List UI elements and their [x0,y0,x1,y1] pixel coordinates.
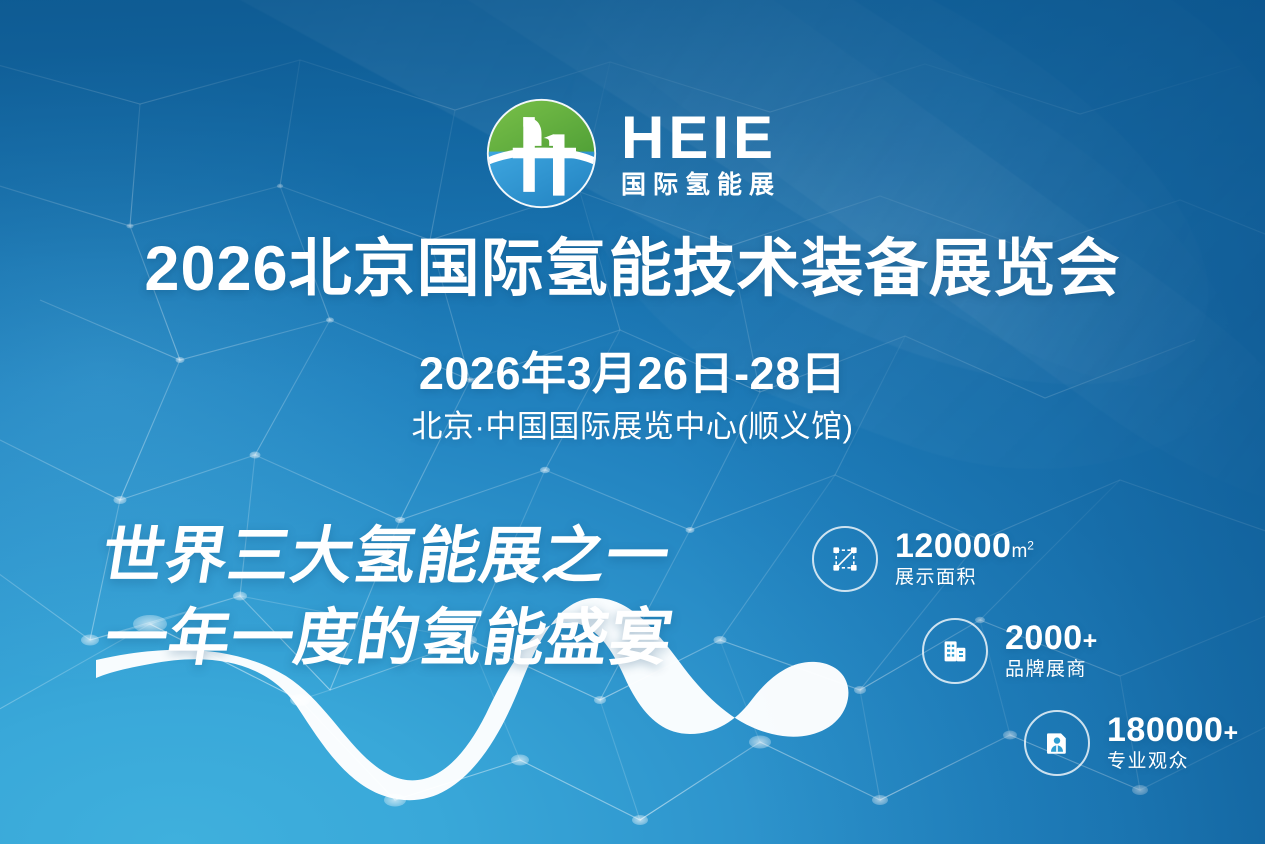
stat-suffix: + [1223,719,1238,747]
slogan-line-2: 一年一度的氢能盛宴 [83,598,679,680]
page-title: 2026北京国际氢能技术装备展览会 [0,236,1265,302]
slogan-block: 世界三大氢能展之一 一年一度的氢能盛宴 [83,516,692,680]
event-date: 2026年3月26日-28日 [0,350,1265,399]
stat-text-group: 180000+ 专业观众 [1107,713,1239,773]
brand-wordmark-group: HEIE 国际氢能展 [621,109,781,199]
brand-subtitle: 国际氢能展 [621,173,781,198]
brand-wordmark: HEIE [621,109,777,168]
stat-number: 2000 [1005,619,1083,657]
stat-professional-visitors: 180000+ 专业观众 [1024,710,1239,776]
heie-logo-icon [484,96,599,211]
visitor-badge-icon [1024,710,1090,776]
stat-suffix: + [1083,627,1098,655]
stat-exhibition-area: 120000m2 展示面积 [812,526,1034,592]
stat-number: 120000 [895,527,1011,565]
stat-label: 品牌展商 [1005,660,1098,681]
stat-brand-exhibitors: 2000+ 品牌展商 [922,618,1098,684]
stat-value: 120000m2 [895,529,1034,565]
stat-unit: m2 [1011,541,1034,562]
brand-lockup: HEIE 国际氢能展 [0,96,1265,211]
event-poster: HEIE 国际氢能展 2026北京国际氢能技术装备展览会 2026年3月26日-… [0,0,1265,844]
slogan-line-1: 世界三大氢能展之一 [96,516,692,598]
building-icon [922,618,988,684]
stat-value: 2000+ [1005,621,1098,657]
stat-label: 专业观众 [1107,752,1239,773]
area-measure-icon [812,526,878,592]
event-venue: 北京·中国国际展览中心(顺义馆) [0,408,1265,445]
stat-label: 展示面积 [895,568,1034,589]
stat-text-group: 2000+ 品牌展商 [1005,621,1098,681]
stat-value: 180000+ [1107,713,1239,749]
stat-text-group: 120000m2 展示面积 [895,529,1034,589]
stat-number: 180000 [1107,711,1223,749]
